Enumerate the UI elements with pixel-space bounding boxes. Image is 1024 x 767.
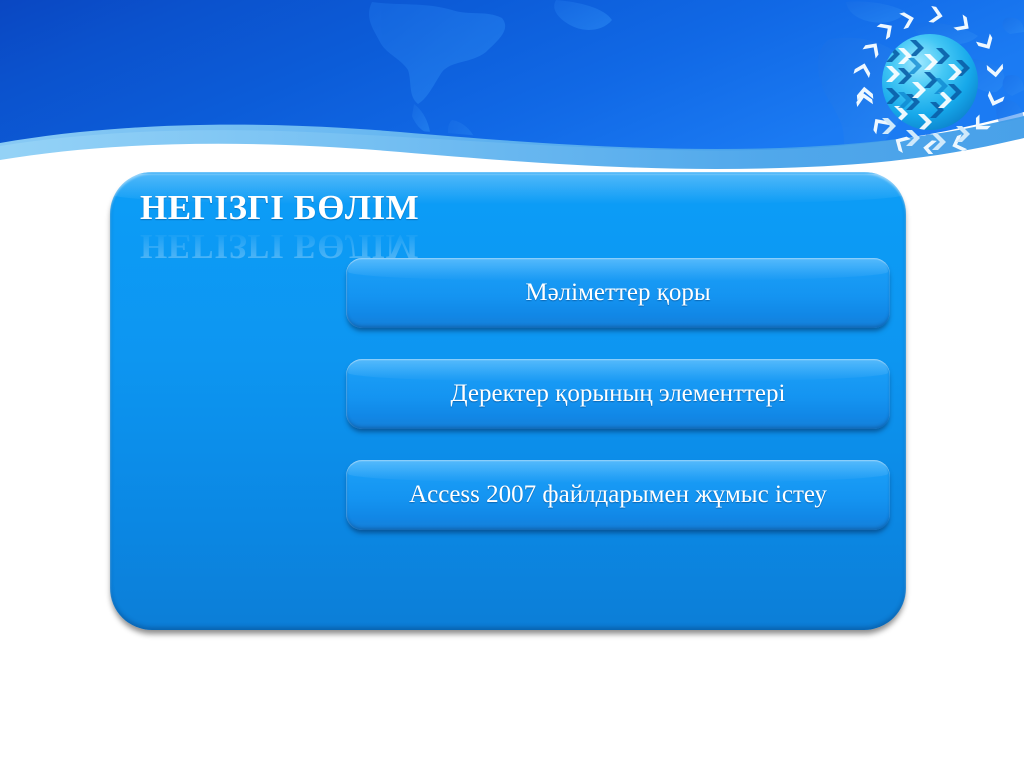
globe-arrows-icon [846, 2, 1008, 154]
menu-item-label: Мәліметтер қоры [515, 279, 720, 307]
menu-item-database[interactable]: Мәліметтер қоры [346, 258, 890, 328]
slide-canvas: НЕГІЗГІ БӨЛІМ НЕГІЗГІ БӨЛІМ Мәліметтер қ… [0, 0, 1024, 767]
content-panel: НЕГІЗГІ БӨЛІМ НЕГІЗГІ БӨЛІМ Мәліметтер қ… [110, 172, 906, 630]
menu-item-database-elements[interactable]: Деректер қорының элементтері [346, 359, 890, 429]
page-title: НЕГІЗГІ БӨЛІМ [140, 188, 840, 228]
menu-item-access-2007-files[interactable]: Access 2007 файлдарымен жұмыс істеу [346, 460, 890, 530]
menu-item-label: Access 2007 файлдарымен жұмыс істеу [399, 481, 837, 509]
menu-list: Мәліметтер қоры Деректер қорының элемент… [346, 258, 890, 530]
menu-item-label: Деректер қорының элементтері [441, 380, 796, 408]
